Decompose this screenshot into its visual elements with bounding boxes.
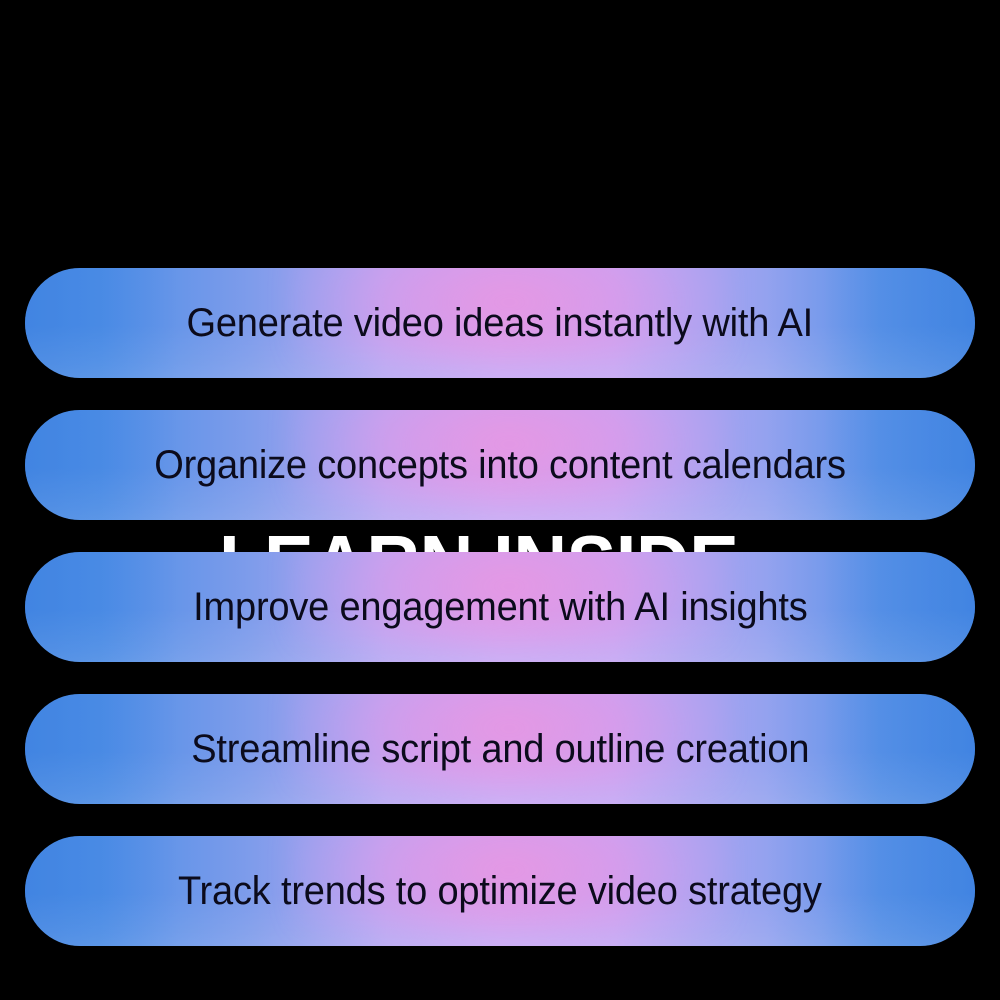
feature-pill-label: Track trends to optimize video strategy bbox=[178, 836, 822, 946]
feature-pill-list: Generate video ideas instantly with AI O… bbox=[25, 268, 975, 946]
feature-pill-5: Track trends to optimize video strategy bbox=[25, 836, 975, 946]
feature-pill-1: Generate video ideas instantly with AI bbox=[25, 268, 975, 378]
feature-pill-2: Organize concepts into content calendars bbox=[25, 410, 975, 520]
poster-canvas: WHAT YOU’LL LEARN INSIDE Generate video … bbox=[0, 0, 1000, 1000]
feature-pill-label: Streamline script and outline creation bbox=[191, 694, 809, 804]
feature-pill-3: Improve engagement with AI insights bbox=[25, 552, 975, 662]
feature-pill-label: Improve engagement with AI insights bbox=[193, 552, 807, 662]
feature-pill-label: Generate video ideas instantly with AI bbox=[187, 268, 813, 378]
feature-pill-label: Organize concepts into content calendars bbox=[154, 410, 846, 520]
feature-pill-4: Streamline script and outline creation bbox=[25, 694, 975, 804]
